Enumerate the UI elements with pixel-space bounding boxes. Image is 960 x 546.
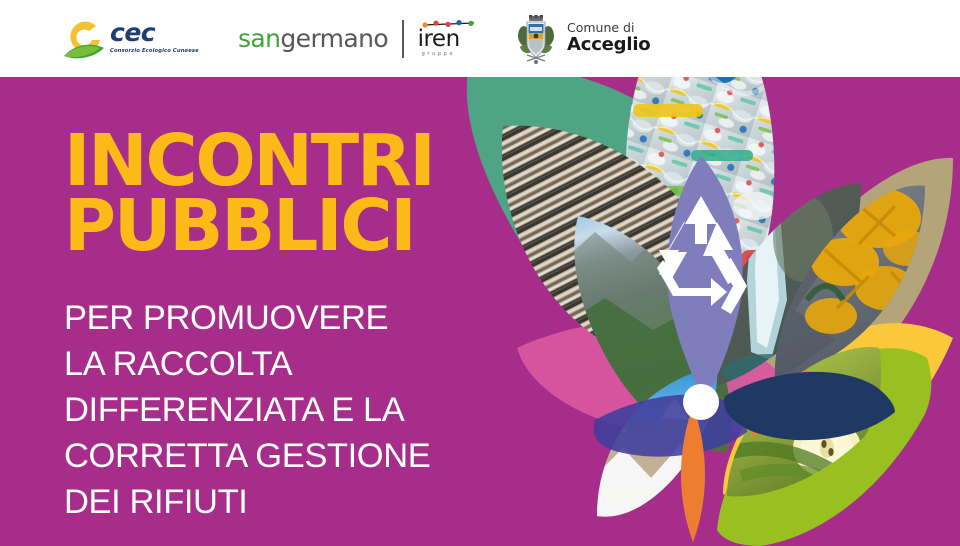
logo-comune-acceglio: Comune di Acceglio — [514, 0, 650, 77]
iren-subtitle: gruppo — [422, 51, 455, 57]
cec-mark-icon — [62, 18, 108, 62]
logo-cec: cec Consorzio Ecologico Cuneese — [62, 0, 182, 77]
comune-label: Comune di — [567, 21, 650, 35]
headline-line-2: PUBBLICI — [64, 193, 534, 258]
subheadline-line-4: CORRETTA GESTIONE — [64, 434, 504, 480]
subheadline-line-3: DIFFERENZIATA E LA — [64, 388, 504, 434]
poster-root: cec Consorzio Ecologico Cuneese sangerma… — [0, 0, 960, 546]
municipal-crest-icon — [514, 13, 558, 65]
logo-sangermano-iren: sangermano iren gruppo — [238, 0, 480, 77]
cec-wordmark: cec — [110, 20, 199, 45]
flower-center — [683, 384, 719, 420]
subheadline-line-2: LA RACCOLTA — [64, 342, 504, 388]
recycling-flower-artwork — [455, 0, 960, 546]
header-logo-band: cec Consorzio Ecologico Cuneese sangerma… — [0, 0, 960, 77]
comune-name: Acceglio — [567, 35, 650, 55]
subheadline-line-1: PER PROMUOVERE — [64, 296, 504, 342]
iren-wordmark: iren — [418, 28, 460, 51]
headline: INCONTRI PUBBLICI — [64, 128, 534, 259]
logo-divider — [402, 20, 404, 58]
cec-tagline: Consorzio Ecologico Cuneese — [110, 48, 199, 54]
sangermano-suffix: germano — [280, 24, 388, 53]
sangermano-wordmark: sangermano — [238, 26, 388, 51]
subheadline-line-5: DEI RIFIUTI — [64, 480, 504, 526]
subheadline: PER PROMUOVERE LA RACCOLTA DIFFERENZIATA… — [64, 296, 504, 525]
sangermano-prefix: san — [238, 24, 280, 53]
